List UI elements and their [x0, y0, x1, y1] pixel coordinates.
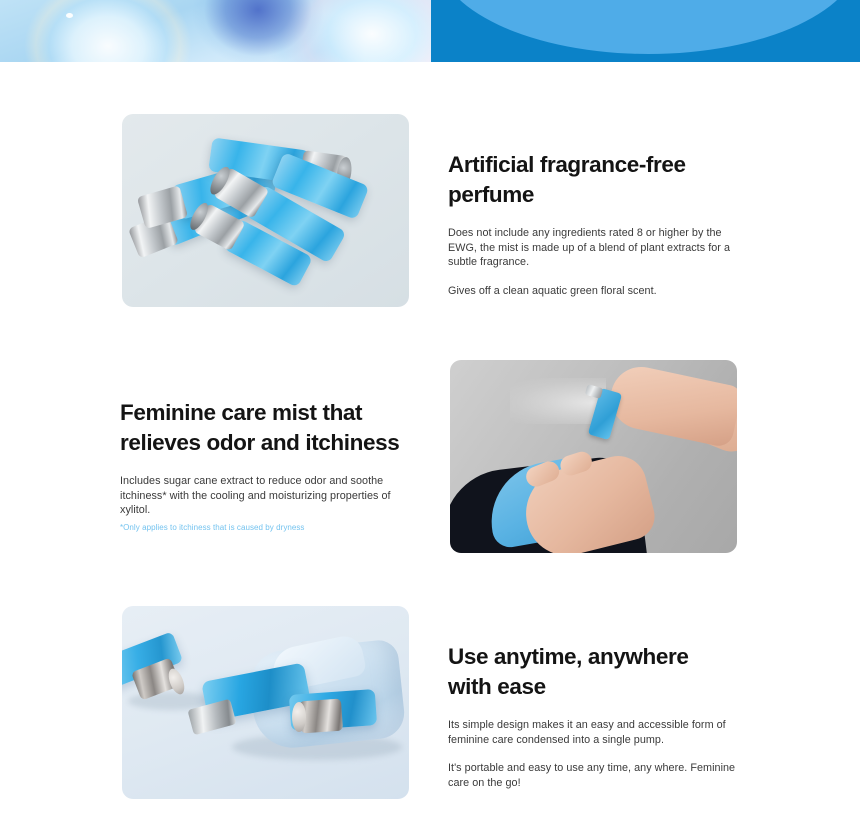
- section-paragraph: It's portable and easy to use any time, …: [448, 761, 740, 790]
- feature-section-odor-itchiness: Feminine care mist that relieves odor an…: [0, 360, 860, 553]
- section-headline: Artificial fragrance-free perfume: [448, 150, 740, 210]
- hand-holding-garment: [516, 450, 659, 553]
- feature-section-perfume: Artificial fragrance-free perfume Does n…: [0, 114, 860, 309]
- section-paragraph: Does not include any ingredients rated 8…: [448, 226, 740, 270]
- feature-copy-odor-itchiness: Feminine care mist that relieves odor an…: [120, 398, 412, 533]
- blue-panel-banner: [431, 0, 860, 62]
- feature-copy-portable: Use anytime, anywhere with ease Its simp…: [448, 642, 740, 790]
- section-paragraph: Gives off a clean aquatic green floral s…: [448, 284, 740, 299]
- hero-banner: [0, 0, 860, 62]
- section-paragraph: Includes sugar cane extract to reduce od…: [120, 474, 412, 518]
- bubble-photo-banner: [0, 0, 431, 62]
- section-headline: Use anytime, anywhere with ease: [448, 642, 740, 702]
- finger: [558, 449, 595, 478]
- feature-copy-perfume: Artificial fragrance-free perfume Does n…: [448, 150, 740, 298]
- hand-holding-bottle: [605, 361, 737, 448]
- product-image-bottles: [122, 114, 409, 307]
- product-image-spraying: [450, 360, 737, 553]
- bottle-cap-top: [292, 702, 306, 732]
- feature-section-portable: Use anytime, anywhere with ease Its simp…: [0, 606, 860, 799]
- bubble-highlight-icon: [66, 13, 73, 18]
- section-paragraph: Its simple design makes it an easy and a…: [448, 718, 740, 747]
- product-image-pouch: [122, 606, 409, 799]
- section-footnote: *Only applies to itchiness that is cause…: [120, 522, 412, 533]
- section-headline: Feminine care mist that relieves odor an…: [120, 398, 412, 458]
- rounded-blue-shape: [437, 0, 860, 54]
